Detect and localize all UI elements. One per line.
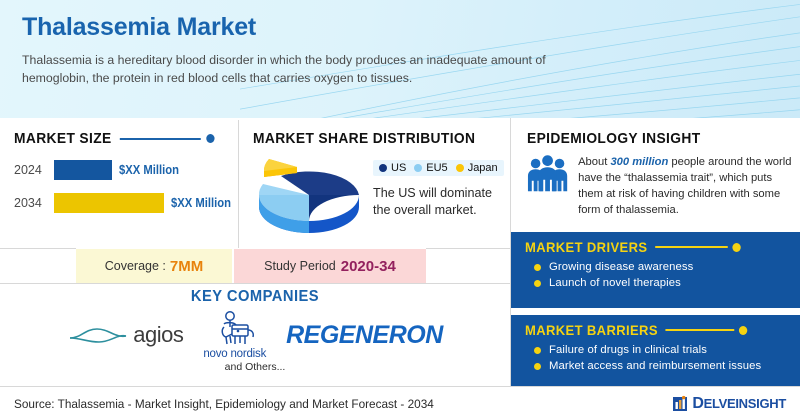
study-period-value: 2020-34 — [341, 258, 396, 275]
study-period-strip: Study Period 2020-34 — [234, 249, 426, 283]
people-group-icon — [527, 154, 569, 194]
market-drivers-panel: MARKET DRIVERS Growing disease awareness… — [511, 232, 800, 308]
epidemiology-panel: EPIDEMIOLOGY INSIGHT About 300 million p… — [511, 118, 800, 230]
market-share-heading-label: MARKET SHARE DISTRIBUTION — [253, 130, 475, 147]
legend-item-us: US — [379, 162, 406, 174]
brand-initial: D — [692, 395, 703, 412]
bullet-icon — [534, 363, 541, 370]
market-size-value: $XX Million — [171, 196, 231, 210]
market-barriers-panel: MARKET BARRIERS Failure of drugs in clin… — [511, 315, 800, 391]
regeneron-wordmark: REGENERON — [286, 321, 443, 350]
delveinsight-mark-icon — [673, 395, 690, 413]
page-title: Thalassemia Market — [22, 14, 800, 42]
market-size-panel: MARKET SIZE 2024 $XX Million 2034 $XX Mi… — [0, 118, 238, 248]
coverage-strip: Coverage : 7MM — [76, 249, 232, 283]
logo-agios: agios — [67, 322, 183, 348]
market-drivers-item: Launch of novel therapies — [534, 277, 800, 289]
bar-year-label: 2034 — [14, 196, 54, 210]
legend-swatch — [456, 164, 464, 172]
legend-label: EU5 — [426, 162, 447, 174]
heading-rule — [655, 246, 728, 248]
agios-wordmark: agios — [133, 322, 183, 348]
key-companies-footnote: and Others... — [0, 361, 510, 373]
epidemiology-heading: EPIDEMIOLOGY INSIGHT — [527, 130, 778, 147]
legend-label: Japan — [468, 162, 498, 174]
bullet-icon — [534, 264, 541, 271]
heading-dot — [206, 134, 214, 143]
heading-dot — [732, 243, 740, 252]
market-size-value: $XX Million — [119, 163, 179, 177]
market-drivers-heading: MARKET DRIVERS — [525, 239, 781, 255]
market-size-bar — [54, 160, 112, 180]
legend-swatch — [379, 164, 387, 172]
market-drivers-heading-label: MARKET DRIVERS — [525, 239, 647, 255]
header-banner: Thalassemia Market Thalassemia is a here… — [0, 0, 800, 118]
epi-highlight: 300 million — [610, 156, 668, 168]
study-period-label: Study Period — [264, 259, 336, 273]
market-size-bar — [54, 193, 164, 213]
market-share-panel: MARKET SHARE DISTRIBUTION — [239, 118, 510, 248]
divider-horizontal-b — [426, 248, 510, 249]
epi-text-before: About — [578, 156, 610, 168]
novo-nordisk-wordmark: novo nordisk — [203, 348, 266, 360]
heading-dot — [739, 326, 747, 335]
logo-novo-nordisk: novo nordisk — [203, 310, 266, 360]
market-drivers-item-label: Launch of novel therapies — [549, 277, 681, 289]
page-subtitle: Thalassemia is a hereditary blood disord… — [22, 51, 602, 87]
agios-swoosh-icon — [67, 322, 129, 348]
legend-item-eu5: EU5 — [414, 162, 447, 174]
key-companies-heading: KEY COMPANIES — [20, 288, 489, 306]
source-text: Source: Thalassemia - Market Insight, Ep… — [14, 397, 434, 411]
bar-year-label: 2024 — [14, 163, 54, 177]
coverage-value: 7MM — [170, 258, 203, 275]
market-barriers-item-label: Market access and reimbursement issues — [549, 360, 761, 372]
delveinsight-wordmark: DELVEINSIGHT — [692, 395, 786, 413]
market-size-row: 2024 $XX Million — [14, 160, 238, 180]
pie-legend: US EU5 Japan — [373, 160, 504, 176]
market-share-heading: MARKET SHARE DISTRIBUTION — [253, 130, 489, 147]
market-barriers-heading-label: MARKET BARRIERS — [525, 322, 658, 338]
market-share-pie-chart — [249, 151, 369, 237]
market-barriers-item-label: Failure of drugs in clinical trials — [549, 344, 707, 356]
legend-label: US — [391, 162, 406, 174]
epidemiology-text: About 300 million people around the worl… — [578, 154, 800, 219]
footer: Source: Thalassemia - Market Insight, Ep… — [0, 386, 800, 420]
market-drivers-item: Growing disease awareness — [534, 261, 800, 273]
bullet-icon — [534, 347, 541, 354]
infographic-poster: Thalassemia Market Thalassemia is a here… — [0, 0, 800, 420]
epidemiology-heading-label: EPIDEMIOLOGY INSIGHT — [527, 130, 701, 147]
market-barriers-item: Market access and reimbursement issues — [534, 360, 800, 372]
market-barriers-item: Failure of drugs in clinical trials — [534, 344, 800, 356]
market-size-row: 2034 $XX Million — [14, 193, 238, 213]
legend-swatch — [414, 164, 422, 172]
novo-nordisk-apis-bull-icon — [210, 310, 260, 350]
divider-horizontal-a — [0, 248, 76, 249]
content-area: MARKET SIZE 2024 $XX Million 2034 $XX Mi… — [0, 118, 800, 386]
delveinsight-logo: DELVEINSIGHT — [673, 395, 786, 413]
bullet-icon — [534, 280, 541, 287]
market-drivers-item-label: Growing disease awareness — [549, 261, 693, 273]
coverage-label: Coverage : — [105, 259, 166, 273]
market-size-heading: MARKET SIZE — [14, 130, 220, 147]
heading-rule — [120, 138, 201, 140]
market-barriers-heading: MARKET BARRIERS — [525, 322, 781, 338]
brand-rest: ELVEINSIGHT — [704, 396, 786, 411]
market-share-note: The US will dominate the overall market. — [373, 185, 508, 219]
market-size-heading-label: MARKET SIZE — [14, 130, 112, 147]
key-companies-panel: KEY COMPANIES agios — [0, 284, 510, 386]
legend-item-japan: Japan — [456, 162, 498, 174]
heading-rule — [665, 329, 734, 331]
